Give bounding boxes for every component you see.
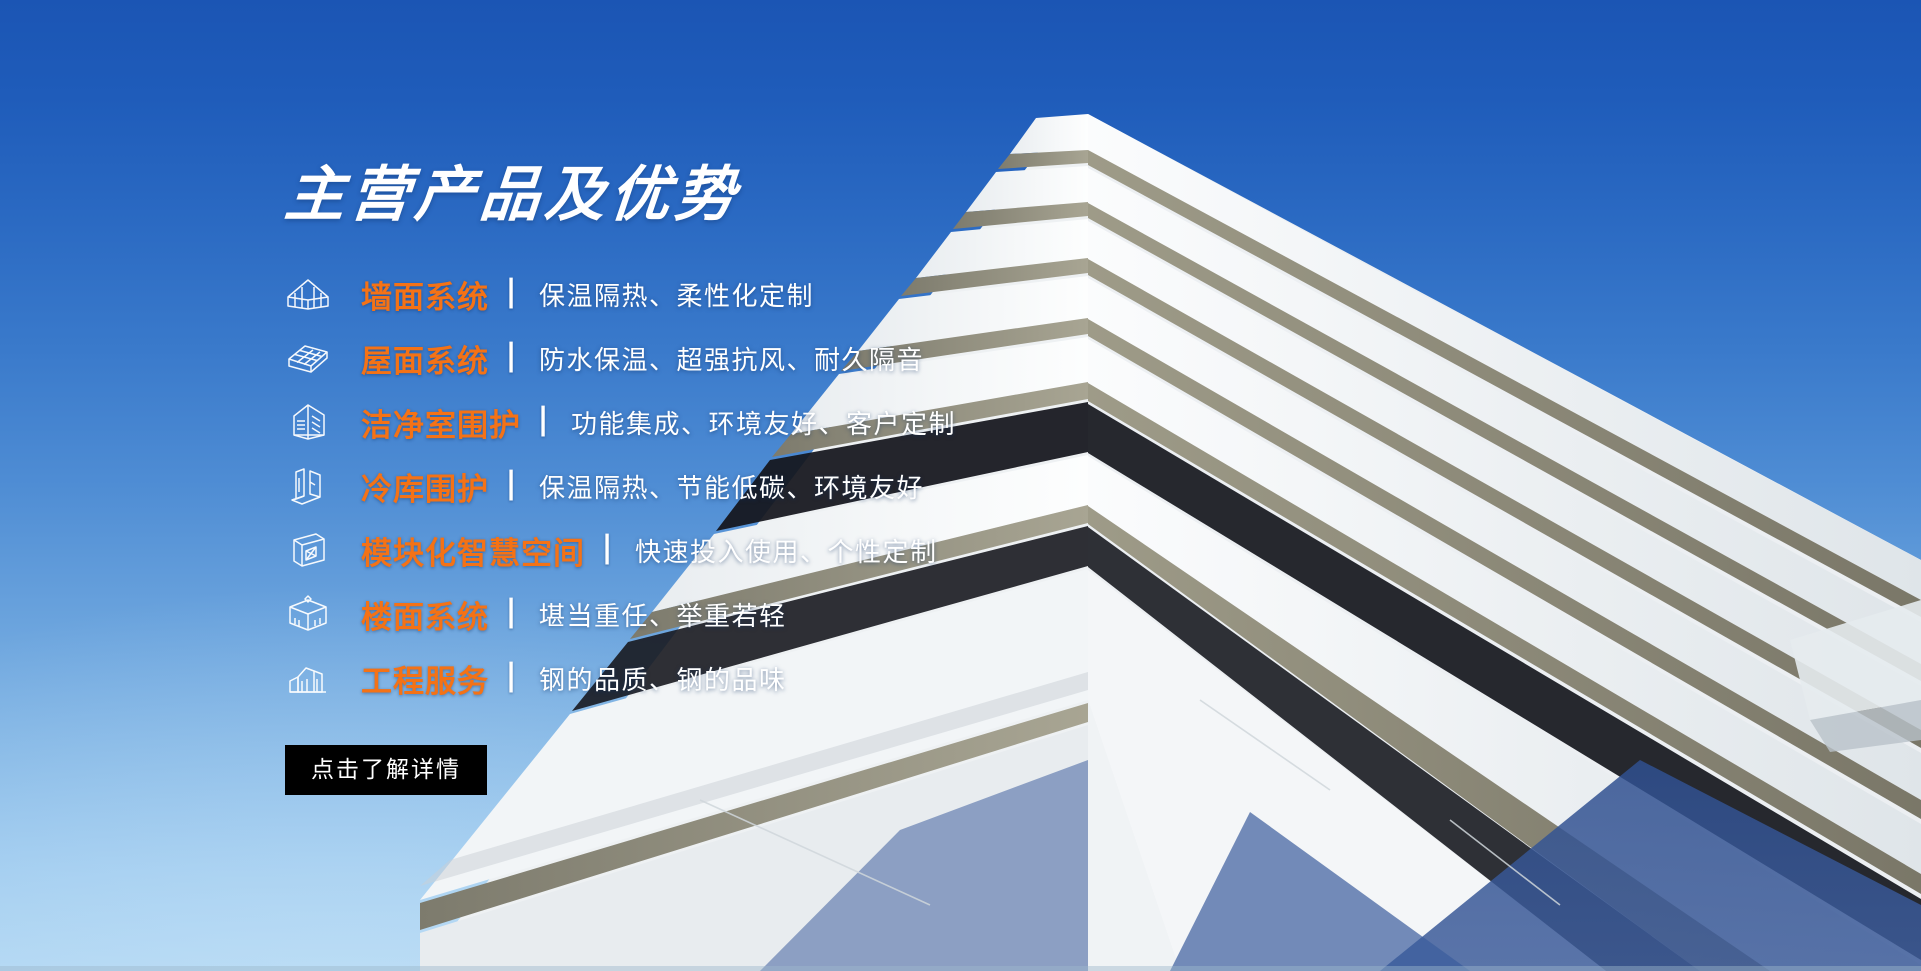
product-name: 楼面系统 — [361, 592, 489, 637]
list-item[interactable]: 楼面系统 ▎ 堪当重任、举重若轻 — [285, 591, 1285, 637]
wall-system-icon — [285, 273, 331, 315]
cold-storage-icon — [285, 465, 331, 507]
separator-bar: ▎ — [510, 344, 523, 370]
separator-bar: ▎ — [510, 472, 523, 498]
list-item[interactable]: 墙面系统 ▎ 保温隔热、柔性化定制 — [285, 271, 1285, 317]
list-item[interactable]: 屋面系统 ▎ 防水保温、超强抗风、耐久隔音 — [285, 335, 1285, 381]
separator-bar: ▎ — [510, 280, 523, 306]
separator-bar: ▎ — [606, 536, 619, 562]
product-name: 洁净室围护 — [361, 400, 521, 445]
product-list: 墙面系统 ▎ 保温隔热、柔性化定制 屋面系统 ▎ 防水保温、超强抗 — [285, 271, 1285, 701]
product-description: 堪当重任、举重若轻 — [539, 596, 787, 633]
separator-bar: ▎ — [510, 600, 523, 626]
cleanroom-icon — [285, 401, 331, 443]
product-name: 模块化智慧空间 — [361, 528, 585, 573]
floor-system-icon — [285, 593, 331, 635]
page-title: 主营产品及优势 — [282, 165, 1287, 225]
separator-bar: ▎ — [542, 408, 555, 434]
product-description: 保温隔热、柔性化定制 — [539, 276, 814, 313]
list-item[interactable]: 模块化智慧空间 ▎ 快速投入使用、个性定制 — [285, 527, 1285, 573]
product-description: 钢的品质、钢的品味 — [539, 660, 787, 697]
roof-system-icon — [285, 337, 331, 379]
hero-banner: 主营产品及优势 墙面系统 ▎ 保温隔热、柔性化定制 — [0, 0, 1921, 971]
product-description: 快速投入使用、个性定制 — [635, 532, 938, 569]
list-item[interactable]: 工程服务 ▎ 钢的品质、钢的品味 — [285, 655, 1285, 701]
engineering-icon — [285, 657, 331, 699]
list-item[interactable]: 洁净室围护 ▎ 功能集成、环境友好、客户定制 — [285, 399, 1285, 445]
modular-space-icon — [285, 529, 331, 571]
product-description: 防水保温、超强抗风、耐久隔音 — [539, 340, 924, 377]
product-name: 冷库围护 — [361, 464, 489, 509]
list-item[interactable]: 冷库围护 ▎ 保温隔热、节能低碳、环境友好 — [285, 463, 1285, 509]
separator-bar: ▎ — [510, 664, 523, 690]
product-name: 墙面系统 — [361, 272, 489, 317]
product-description: 功能集成、环境友好、客户定制 — [571, 404, 956, 441]
hero-content: 主营产品及优势 墙面系统 ▎ 保温隔热、柔性化定制 — [285, 165, 1285, 795]
learn-more-button[interactable]: 点击了解详情 — [285, 745, 487, 795]
product-description: 保温隔热、节能低碳、环境友好 — [539, 468, 924, 505]
product-name: 工程服务 — [361, 656, 489, 701]
product-name: 屋面系统 — [361, 336, 489, 381]
